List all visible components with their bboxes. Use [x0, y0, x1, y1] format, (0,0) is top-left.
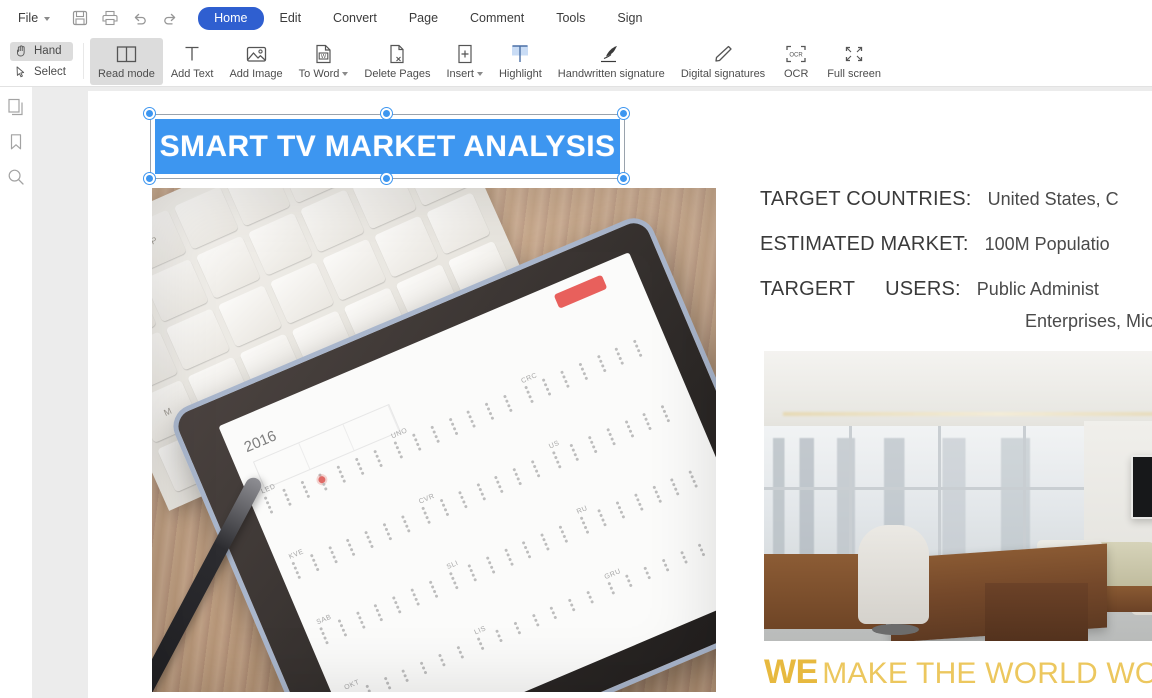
- page-delete-icon: [388, 43, 406, 65]
- tab-tools[interactable]: Tools: [540, 7, 601, 30]
- add-image-button[interactable]: Add Image: [221, 38, 290, 85]
- resize-handle-n[interactable]: [381, 108, 392, 119]
- tagline-bold: WE: [764, 653, 818, 691]
- to-word-text: To Word: [299, 68, 340, 80]
- resize-handle-ne[interactable]: [618, 108, 629, 119]
- title-textbox-selection[interactable]: SMART TV MARKET ANALYSIS: [150, 114, 625, 179]
- ribbon-toolbar: Hand Select Read mode: [0, 36, 1152, 87]
- desk-pedestal: [985, 583, 1088, 641]
- spec-row-estimated-market: ESTIMATED MARKET: 100M Populatio: [760, 233, 1152, 256]
- pencil-icon: [712, 43, 734, 65]
- cove-light: [783, 412, 1152, 416]
- ocr-button[interactable]: OCR OCR: [773, 38, 819, 85]
- office-boardroom-photo[interactable]: [764, 351, 1152, 641]
- spec-label-target-users: TARGERT USERS:: [760, 278, 961, 301]
- spec-value-target-users: Public Administ: [977, 279, 1099, 300]
- resize-handle-se[interactable]: [618, 173, 629, 184]
- spec-label-users: USERS:: [885, 278, 961, 301]
- spec-label-estimated-market: ESTIMATED MARKET:: [760, 233, 969, 256]
- search-icon[interactable]: [7, 168, 25, 186]
- tagline-rest: MAKE THE WORLD WO: [822, 657, 1152, 690]
- chair-base: [872, 624, 919, 636]
- cursor-select-icon: [14, 65, 28, 79]
- wall-mounted-tv: [1131, 455, 1152, 519]
- document-canvas[interactable]: SMART TV MARKET ANALYSIS OP L K M: [88, 87, 1152, 698]
- print-icon[interactable]: [102, 10, 118, 26]
- hand-tool-label: Hand: [34, 45, 62, 57]
- office-chair: [858, 525, 929, 624]
- tab-convert[interactable]: Convert: [317, 7, 393, 30]
- tab-page[interactable]: Page: [393, 7, 454, 30]
- left-navigation-rail: [0, 87, 32, 698]
- delete-pages-label: Delete Pages: [364, 68, 430, 80]
- ribbon-tab-bar: Home Edit Convert Page Comment Tools Sig…: [198, 7, 658, 30]
- tab-comment[interactable]: Comment: [454, 7, 540, 30]
- digital-signatures-button[interactable]: Digital signatures: [673, 38, 773, 85]
- text-t-icon: [182, 43, 202, 65]
- spec-list: TARGET COUNTRIES: United States, C ESTIM…: [760, 188, 1152, 350]
- sidebar-gutter: [32, 87, 88, 698]
- file-menu-button[interactable]: File: [14, 6, 54, 30]
- tab-home[interactable]: Home: [198, 7, 263, 30]
- tagline: WE MAKE THE WORLD WO: [764, 653, 1152, 692]
- resize-handle-s[interactable]: [381, 173, 392, 184]
- fullscreen-icon: [843, 43, 865, 65]
- insert-label: Insert: [446, 68, 483, 80]
- handwritten-signature-label: Handwritten signature: [558, 68, 665, 80]
- to-word-button[interactable]: W To Word: [291, 38, 357, 85]
- save-icon[interactable]: [72, 10, 88, 26]
- image-icon: [246, 43, 267, 65]
- photo-vignette: [152, 188, 716, 692]
- title-textbox[interactable]: SMART TV MARKET ANALYSIS: [155, 119, 620, 174]
- pdf-editor-window: File Home Edi: [0, 0, 1152, 698]
- tab-sign[interactable]: Sign: [601, 7, 658, 30]
- bookmark-icon[interactable]: [7, 133, 25, 151]
- select-tool-label: Select: [34, 66, 66, 78]
- menu-bar: File Home Edi: [0, 0, 1152, 36]
- resize-handle-nw[interactable]: [144, 108, 155, 119]
- window-mullion: [764, 487, 1093, 490]
- highlight-icon: [509, 43, 531, 65]
- add-text-button[interactable]: Add Text: [163, 38, 222, 85]
- tab-edit[interactable]: Edit: [264, 7, 318, 30]
- quill-pen-icon: [598, 43, 624, 65]
- word-doc-icon: W: [314, 43, 333, 65]
- read-mode-button[interactable]: Read mode: [90, 38, 163, 85]
- hand-tool-button[interactable]: Hand: [10, 42, 73, 61]
- ocr-icon: OCR: [784, 43, 808, 65]
- spec-row-target-users: TARGERT USERS: Public Administ: [760, 278, 1152, 301]
- highlight-label: Highlight: [499, 68, 542, 80]
- pdf-page[interactable]: SMART TV MARKET ANALYSIS OP L K M: [88, 91, 1152, 698]
- chevron-down-icon: [477, 72, 483, 76]
- pointer-mode-group: Hand Select: [6, 36, 77, 87]
- undo-icon[interactable]: [132, 10, 148, 26]
- insert-text: Insert: [446, 68, 474, 80]
- title-text: SMART TV MARKET ANALYSIS: [160, 130, 616, 164]
- spec-label-target-countries: TARGET COUNTRIES:: [760, 188, 972, 211]
- thumbnails-icon[interactable]: [7, 98, 25, 116]
- file-menu-label: File: [18, 11, 38, 25]
- highlight-button[interactable]: Highlight: [491, 38, 550, 85]
- hand-icon: [14, 44, 28, 58]
- add-image-label: Add Image: [229, 68, 282, 80]
- chevron-down-icon: [44, 17, 50, 21]
- tablet-calendar-photo[interactable]: OP L K M N 2016 LED UNO: [152, 188, 716, 692]
- spec-value-target-countries: United States, C: [988, 189, 1119, 210]
- page-insert-icon: [456, 43, 474, 65]
- book-open-icon: [116, 43, 137, 65]
- add-text-label: Add Text: [171, 68, 214, 80]
- handwritten-signature-button[interactable]: Handwritten signature: [550, 38, 673, 85]
- full-screen-label: Full screen: [827, 68, 881, 80]
- svg-text:OCR: OCR: [790, 53, 804, 59]
- ocr-label: OCR: [784, 68, 808, 80]
- insert-button[interactable]: Insert: [438, 38, 491, 85]
- quick-access-toolbar: [72, 10, 178, 26]
- ribbon-divider: [83, 43, 84, 79]
- read-mode-label: Read mode: [98, 68, 155, 80]
- resize-handle-sw[interactable]: [144, 173, 155, 184]
- redo-icon[interactable]: [162, 10, 178, 26]
- digital-signatures-label: Digital signatures: [681, 68, 765, 80]
- select-tool-button[interactable]: Select: [10, 63, 73, 82]
- delete-pages-button[interactable]: Delete Pages: [356, 38, 438, 85]
- full-screen-button[interactable]: Full screen: [819, 38, 889, 85]
- chevron-down-icon: [342, 72, 348, 76]
- spec-value-estimated-market: 100M Populatio: [985, 234, 1110, 255]
- spec-row-target-countries: TARGET COUNTRIES: United States, C: [760, 188, 1152, 211]
- svg-text:W: W: [321, 54, 327, 60]
- spec-label-targert: TARGERT: [760, 278, 855, 301]
- spec-value-target-users-line2: Enterprises, Mic: [1025, 311, 1152, 332]
- to-word-label: To Word: [299, 68, 349, 80]
